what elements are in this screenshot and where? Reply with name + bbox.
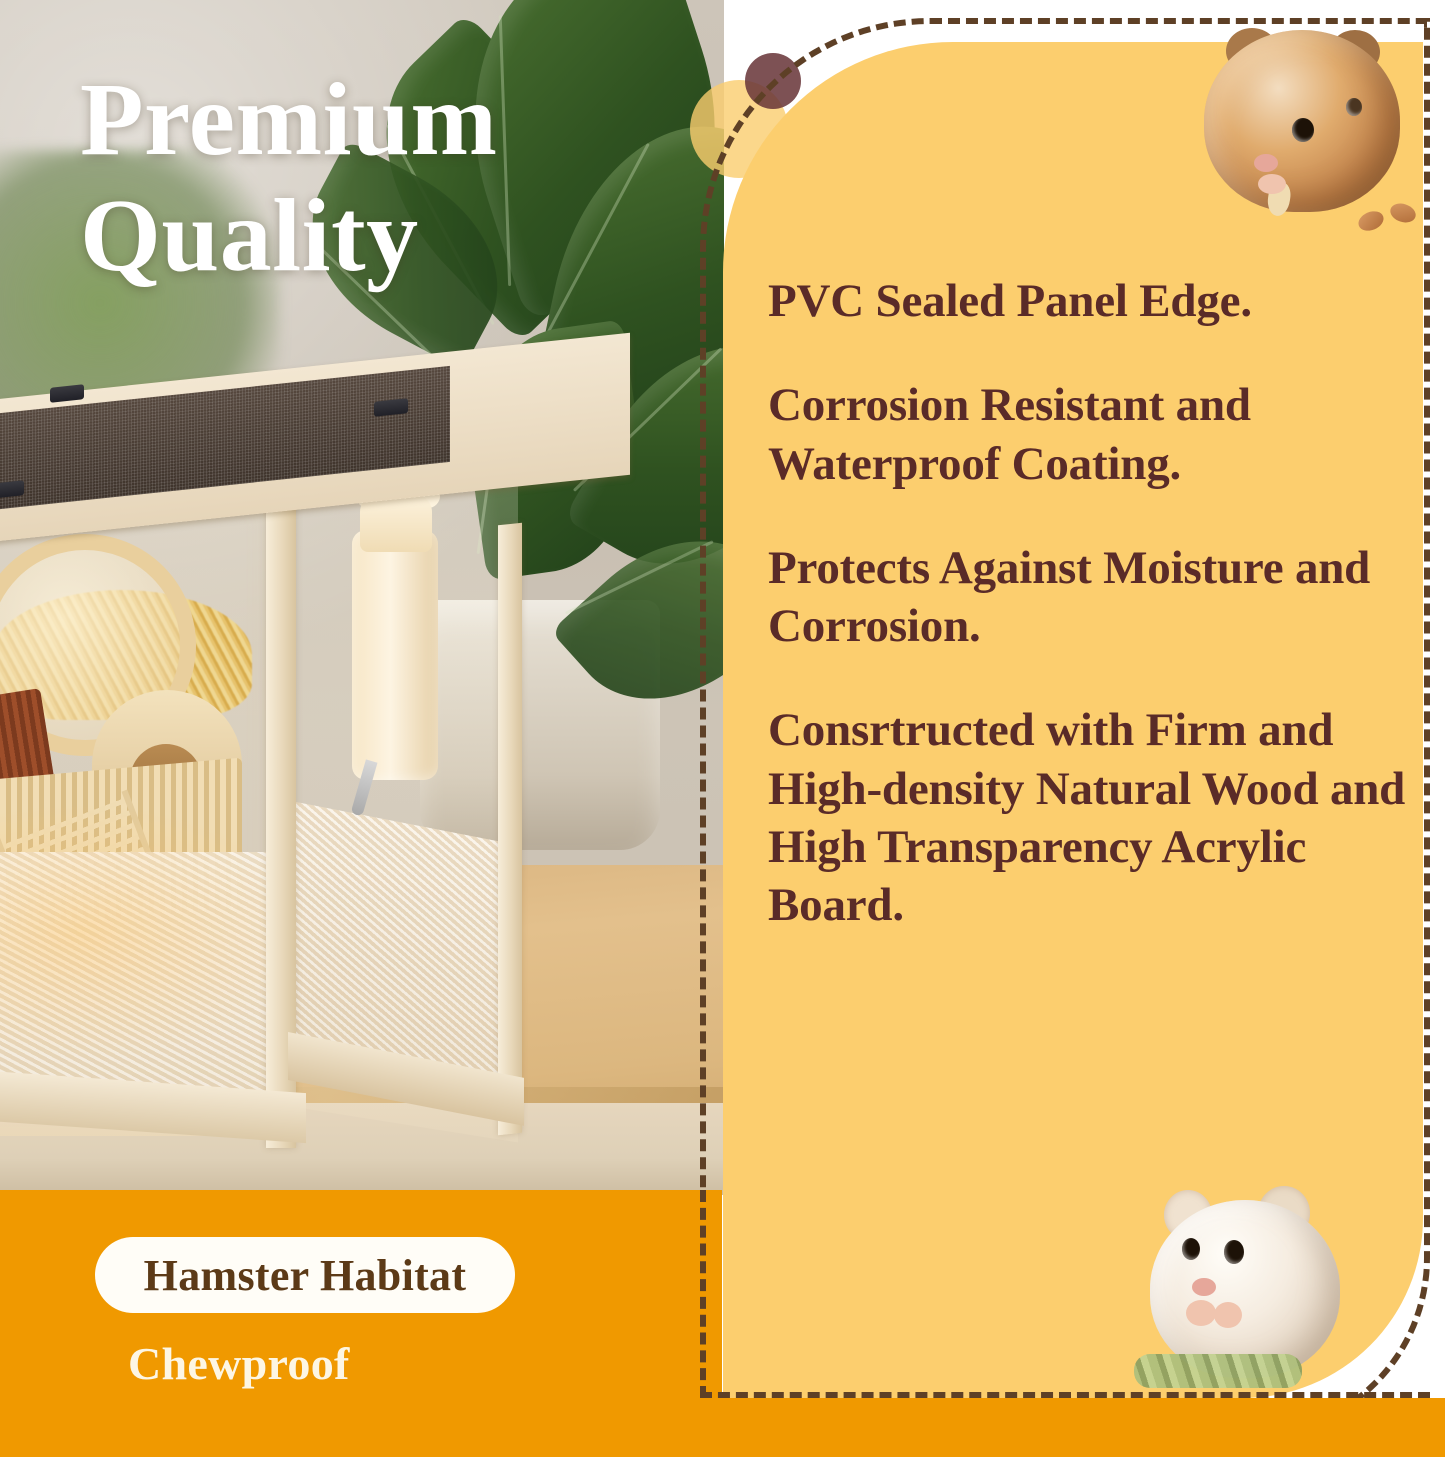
band-dashed-divider (700, 1190, 706, 1398)
hamster-nose (1254, 154, 1278, 172)
badge-label: Hamster Habitat (144, 1250, 467, 1301)
hamster-paw (1214, 1302, 1242, 1328)
status-badge: Hamster Habitat (95, 1237, 515, 1313)
water-bottle (352, 530, 438, 780)
bottom-orange-strip (0, 1398, 1445, 1457)
pumpkin-seeds (1134, 1354, 1302, 1388)
title-line-2: Quality (80, 178, 700, 294)
hamster-top-image (1188, 14, 1420, 232)
hamster-eye (1224, 1240, 1244, 1264)
feature-item: Protects Against Moisture and Corrosion. (768, 539, 1428, 656)
feature-item: PVC Sealed Panel Edge. (768, 272, 1428, 330)
hamster-body (1150, 1200, 1340, 1378)
water-bottle-cap (360, 494, 432, 552)
product-infographic-poster: Premium Quality PVC Sealed Panel Edge. C… (0, 0, 1445, 1457)
feature-item: Corrosion Resistant and Waterproof Coati… (768, 376, 1428, 493)
title-line-1: Premium (80, 62, 700, 178)
wood-shaving-bedding (0, 852, 286, 1092)
feature-item: Consrtructed with Firm and High-density … (768, 701, 1428, 934)
hamster-eye (1346, 98, 1362, 116)
seed-icon (1388, 200, 1418, 225)
seed-icon (1356, 208, 1387, 234)
hamster-bottom-image (1140, 1182, 1372, 1394)
hamster-eye (1182, 1238, 1200, 1260)
hamster-eye (1292, 118, 1314, 142)
feature-list: PVC Sealed Panel Edge. Corrosion Resista… (768, 272, 1428, 980)
hamster-cage (0, 372, 630, 1142)
hamster-paw (1258, 174, 1286, 194)
cage-corner-post (498, 523, 522, 1136)
hamster-paw (1186, 1300, 1216, 1326)
badge-subtitle: Chewproof (128, 1337, 350, 1390)
hamster-nose (1192, 1278, 1216, 1296)
page-title: Premium Quality (80, 62, 700, 295)
